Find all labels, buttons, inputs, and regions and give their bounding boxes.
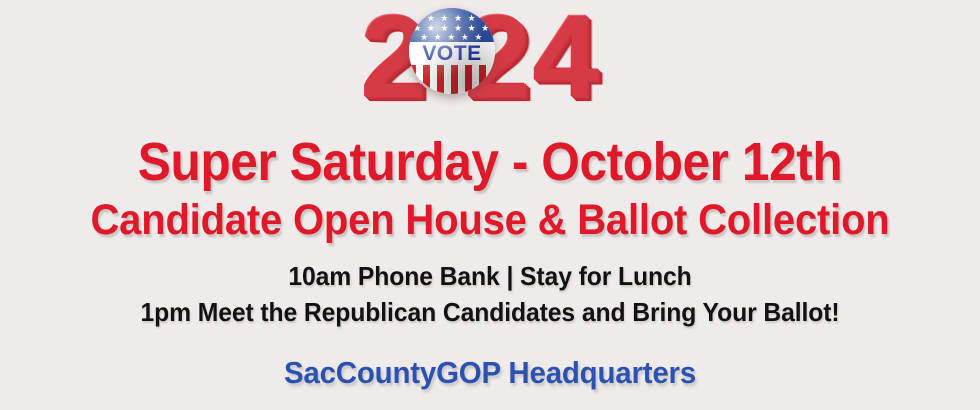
event-detail-line-2: 1pm Meet the Republican Candidates and B… <box>25 294 956 330</box>
event-details: 10am Phone Bank | Stay for Lunch 1pm Mee… <box>0 258 980 330</box>
vote-badge-gloss <box>409 8 495 94</box>
event-venue: SacCountyGOP Headquarters <box>25 353 956 393</box>
event-subheadline: Candidate Open House & Ballot Collection <box>34 196 945 244</box>
event-flyer: 2 2 4 ★ ★ ★ ★ ★ ★ ★ ★ ★ ★ ★ ★ ★ ★ ★ ★ ★ … <box>0 0 980 410</box>
year-digit-4: 4 <box>532 0 592 115</box>
event-detail-line-1: 10am Phone Bank | Stay for Lunch <box>25 258 956 294</box>
event-headline: Super Saturday - October 12th <box>39 133 941 191</box>
vote-button-icon: ★ ★ ★ ★ ★ ★ ★ ★ ★ ★ ★ ★ ★ ★ ★ ★ ★ VOTE <box>409 8 495 94</box>
year-logo: 2 2 4 ★ ★ ★ ★ ★ ★ ★ ★ ★ ★ ★ ★ ★ ★ ★ ★ ★ … <box>0 0 980 120</box>
year-logo-inner: 2 2 4 ★ ★ ★ ★ ★ ★ ★ ★ ★ ★ ★ ★ ★ ★ ★ ★ ★ … <box>360 1 620 119</box>
